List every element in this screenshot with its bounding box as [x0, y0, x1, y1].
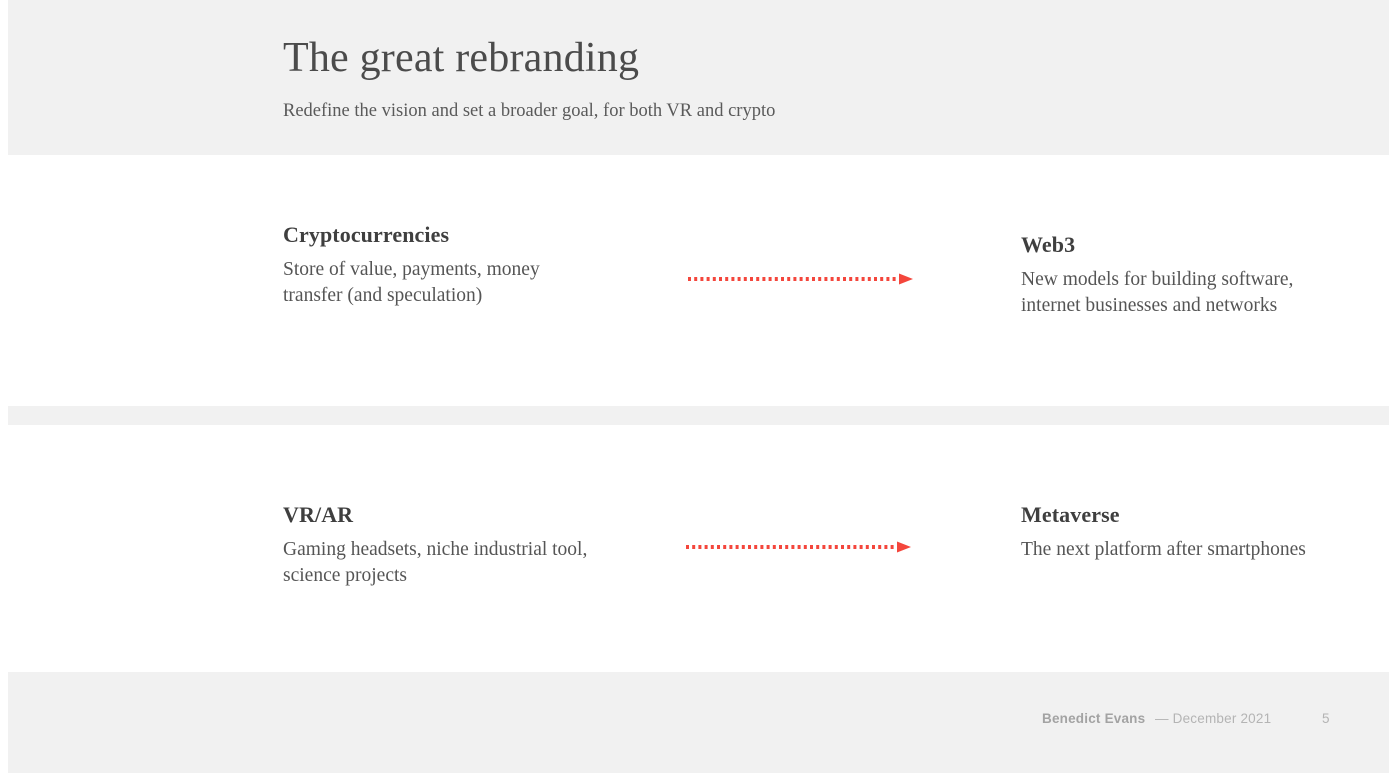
block-body-web3: New models for building software, intern… — [1021, 267, 1321, 319]
page-subtitle: Redefine the vision and set a broader go… — [283, 98, 775, 124]
block-vr-ar: VR/AR Gaming headsets, niche industrial … — [283, 501, 613, 589]
footer-author: Benedict Evans — [1042, 710, 1145, 728]
block-web3: Web3 New models for building software, i… — [1021, 231, 1321, 319]
block-cryptocurrencies: Cryptocurrencies Store of value, payment… — [283, 221, 583, 309]
block-heading-web3: Web3 — [1021, 231, 1321, 259]
slide: The great rebranding Redefine the vision… — [0, 0, 1389, 782]
block-heading-cryptocurrencies: Cryptocurrencies — [283, 221, 583, 249]
header-band — [8, 0, 1389, 155]
footer-date: — December 2021 — [1155, 710, 1271, 728]
block-body-cryptocurrencies: Store of value, payments, money transfer… — [283, 257, 583, 309]
block-metaverse: Metaverse The next platform after smartp… — [1021, 501, 1321, 563]
block-body-metaverse: The next platform after smartphones — [1021, 537, 1321, 563]
divider-band — [8, 406, 1389, 425]
dotted-right-arrow-icon — [688, 273, 914, 285]
block-body-vr-ar: Gaming headsets, niche industrial tool, … — [283, 537, 613, 589]
footer-page-number: 5 — [1322, 710, 1330, 728]
block-heading-metaverse: Metaverse — [1021, 501, 1321, 529]
page-title: The great rebranding — [283, 32, 639, 84]
dotted-right-arrow-icon — [686, 541, 912, 553]
block-heading-vr-ar: VR/AR — [283, 501, 613, 529]
